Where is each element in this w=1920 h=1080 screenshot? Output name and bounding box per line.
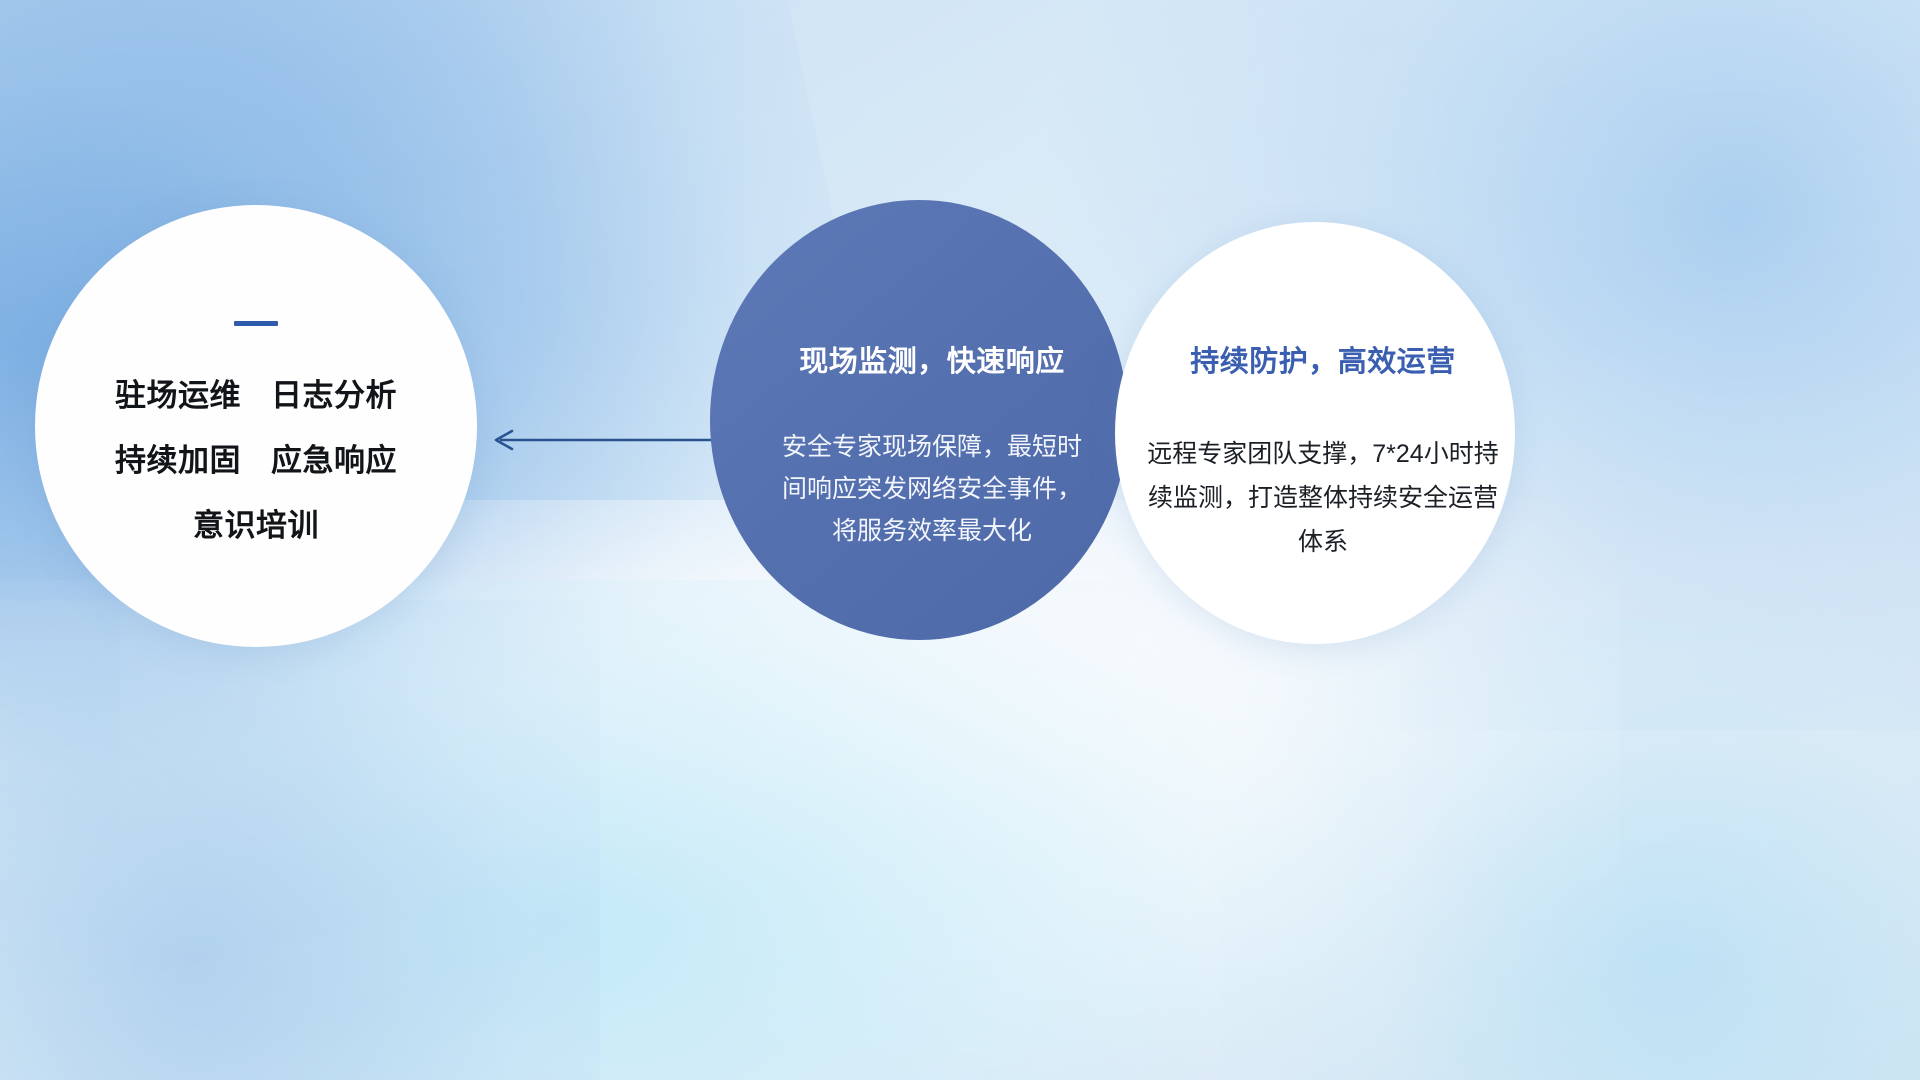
- capability-item: 日志分析: [271, 370, 397, 415]
- continuous-protection-body: 远程专家团队支撑，7*24小时持续监测，打造整体持续安全运营体系: [1137, 432, 1509, 564]
- continuous-protection-title: 持续防护，高效运营: [1190, 338, 1456, 380]
- onsite-monitoring-body: 安全专家现场保障，最短时间响应突发网络安全事件，将服务效率最大化: [779, 426, 1085, 552]
- flow-arrow-icon: [490, 425, 715, 455]
- capability-item: 意识培训: [193, 500, 319, 545]
- capabilities-circle-content: 驻场运维 日志分析 持续加固 应急响应 意识培训: [35, 205, 477, 647]
- capability-item: 应急响应: [271, 435, 397, 480]
- onsite-monitoring-content: 现场监测，快速响应 安全专家现场保障，最短时间响应突发网络安全事件，将服务效率最…: [710, 200, 1128, 640]
- onsite-monitoring-circle: 现场监测，快速响应 安全专家现场保障，最短时间响应突发网络安全事件，将服务效率最…: [710, 200, 1128, 640]
- continuous-protection-content: 持续防护，高效运营 远程专家团队支撑，7*24小时持续监测，打造整体持续安全运营…: [1115, 222, 1515, 644]
- divider-dash: [234, 321, 278, 326]
- capability-list: 驻场运维 日志分析 持续加固 应急响应 意识培训: [115, 370, 397, 545]
- slide-canvas: 驻场运维 日志分析 持续加固 应急响应 意识培训 现场监测，快速响应 安全专家: [0, 0, 1920, 1080]
- capability-row: 持续加固 应急响应: [115, 435, 397, 480]
- capability-item: 持续加固: [115, 435, 241, 480]
- capabilities-circle: 驻场运维 日志分析 持续加固 应急响应 意识培训: [35, 205, 477, 647]
- continuous-protection-circle: 持续防护，高效运营 远程专家团队支撑，7*24小时持续监测，打造整体持续安全运营…: [1115, 222, 1515, 644]
- capability-row: 意识培训: [193, 500, 319, 545]
- capability-row: 驻场运维 日志分析: [115, 370, 397, 415]
- onsite-monitoring-title: 现场监测，快速响应: [799, 338, 1065, 380]
- capability-item: 驻场运维: [115, 370, 241, 415]
